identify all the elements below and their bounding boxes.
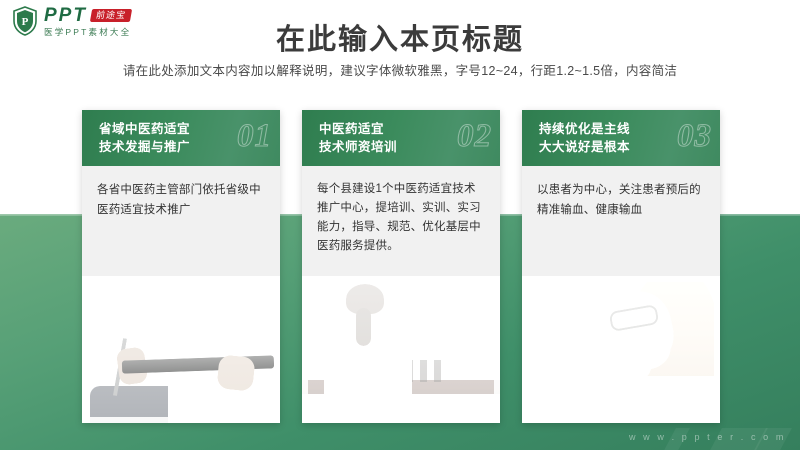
photo-glove xyxy=(570,368,600,394)
photo-content xyxy=(302,276,500,423)
content-card[interactable]: 持续优化是主线 大大说好是根本 03 以患者为中心，关注患者预后的精准输血、健康… xyxy=(522,110,720,423)
photo-ponytail xyxy=(356,308,371,346)
card-body-text: 各省中医药主管部门依托省级中医药适宜技术推广 xyxy=(97,180,265,220)
content-card[interactable]: 中医药适宜 技术师资培训 02 每个县建设1个中医药适宜技术推广中心，提培训、实… xyxy=(302,110,500,423)
card-header: 省域中医药适宜 技术发掘与推广 01 xyxy=(82,110,280,166)
card-header: 中医药适宜 技术师资培训 02 xyxy=(302,110,500,166)
slide-canvas: P PPT 前途宝 医学PPT素材大全 在此输入本页标题 请在此处添加文本内容加… xyxy=(0,0,800,450)
card-header: 持续优化是主线 大大说好是根本 03 xyxy=(522,110,720,166)
photo-glassware xyxy=(430,296,440,356)
card-number: 02 xyxy=(457,118,492,155)
photo-test-tube-rack xyxy=(420,360,427,382)
doctor-holding-tablet-photo xyxy=(82,276,280,423)
card-body-text: 以患者为中心，关注患者预后的精准输血、健康输血 xyxy=(537,180,705,220)
card-body: 以患者为中心，关注患者预后的精准输血、健康输血 xyxy=(522,166,720,276)
card-heading: 持续优化是主线 大大说好是根本 xyxy=(539,120,630,156)
card-number: 03 xyxy=(677,118,712,155)
card-body-text: 每个县建设1个中医药适宜技术推广中心，提培训、实训、实习能力，指导、规范、优化基… xyxy=(317,180,485,256)
card-heading: 省域中医药适宜 技术发掘与推广 xyxy=(99,120,190,156)
card-number: 01 xyxy=(237,118,272,155)
photo-content xyxy=(82,276,280,423)
photo-white-coat xyxy=(618,376,720,423)
photo-patient-legs xyxy=(90,386,168,423)
site-watermark: w w w . p p t e r . c o m xyxy=(629,432,786,442)
card-body: 每个县建设1个中医药适宜技术推广中心，提培训、实训、实习能力，指导、规范、优化基… xyxy=(302,166,500,276)
photo-right-hand xyxy=(216,354,255,392)
content-card[interactable]: 省域中医药适宜 技术发掘与推广 01 各省中医药主管部门依托省级中医药适宜技术推… xyxy=(82,110,280,423)
card-group: 省域中医药适宜 技术发掘与推广 01 各省中医药主管部门依托省级中医药适宜技术推… xyxy=(0,0,800,450)
card-body: 各省中医药主管部门依托省级中医药适宜技术推广 xyxy=(82,166,280,276)
photo-test-tube-rack xyxy=(434,360,441,382)
clinician-with-mask-photo xyxy=(522,276,720,423)
photo-content xyxy=(522,276,720,423)
lab-technician-photo xyxy=(302,276,500,423)
photo-glassware xyxy=(474,296,484,356)
card-heading: 中医药适宜 技术师资培训 xyxy=(319,120,397,156)
photo-glassware xyxy=(452,296,462,356)
